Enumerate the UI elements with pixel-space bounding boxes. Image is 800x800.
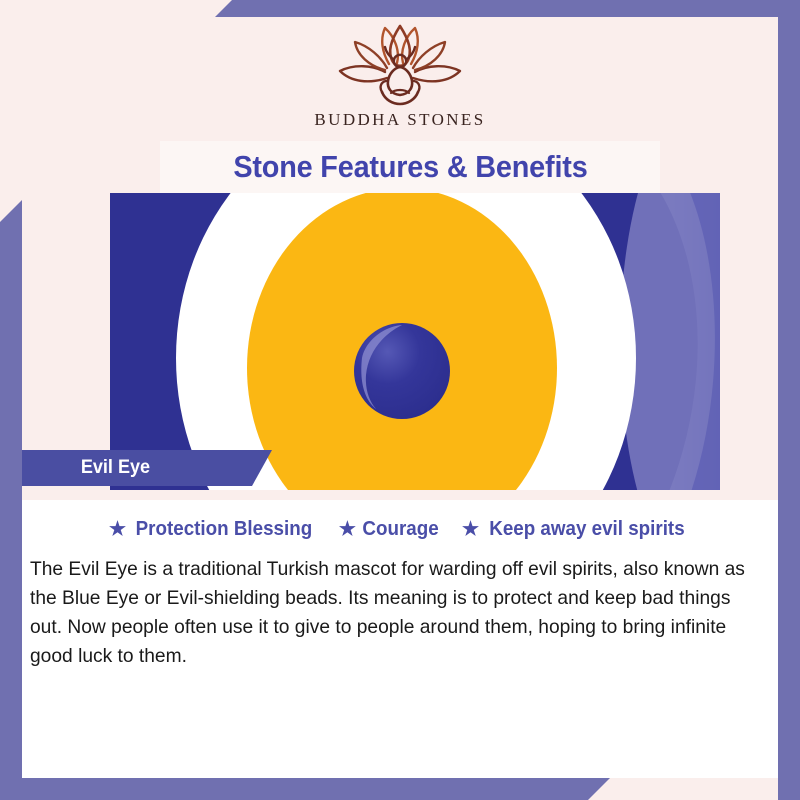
stone-name-label: Evil Eye xyxy=(81,457,150,479)
feature-item-keep-away-evil-spirits: ★ Keep away evil spirits xyxy=(462,518,691,541)
page-title: Stone Features & Benefits xyxy=(233,149,587,185)
evil-eye-bead-graphic xyxy=(110,193,720,490)
product-info-poster: BUDDHA STONES Stone Features & Benefits xyxy=(0,0,800,800)
brand-logo-block: BUDDHA STONES xyxy=(0,22,800,130)
star-icon: ★ xyxy=(339,520,356,539)
star-icon: ★ xyxy=(462,520,479,539)
description-paragraph: The Evil Eye is a traditional Turkish ma… xyxy=(30,555,763,671)
feature-item-protection-blessing: ★ Protection Blessing xyxy=(109,518,318,541)
features-row: ★ Protection Blessing ★ Courage ★ Keep a… xyxy=(22,518,778,541)
feature-item-courage: ★ Courage xyxy=(339,518,441,541)
feature-label: Protection Blessing xyxy=(136,518,313,541)
feature-label: Courage xyxy=(362,518,438,541)
lotus-meditation-figure-icon xyxy=(325,22,475,106)
decor-band-top xyxy=(215,0,800,17)
feature-label: Keep away evil spirits xyxy=(489,518,684,541)
decor-band-left xyxy=(0,200,22,800)
content-card: ★ Protection Blessing ★ Courage ★ Keep a… xyxy=(22,500,778,778)
stone-name-banner: Evil Eye xyxy=(22,450,272,486)
decor-band-bottom xyxy=(0,778,610,800)
hero-image xyxy=(110,193,720,490)
title-bar: Stone Features & Benefits xyxy=(160,141,660,193)
star-icon: ★ xyxy=(109,520,126,539)
brand-name: BUDDHA STONES xyxy=(314,110,485,130)
